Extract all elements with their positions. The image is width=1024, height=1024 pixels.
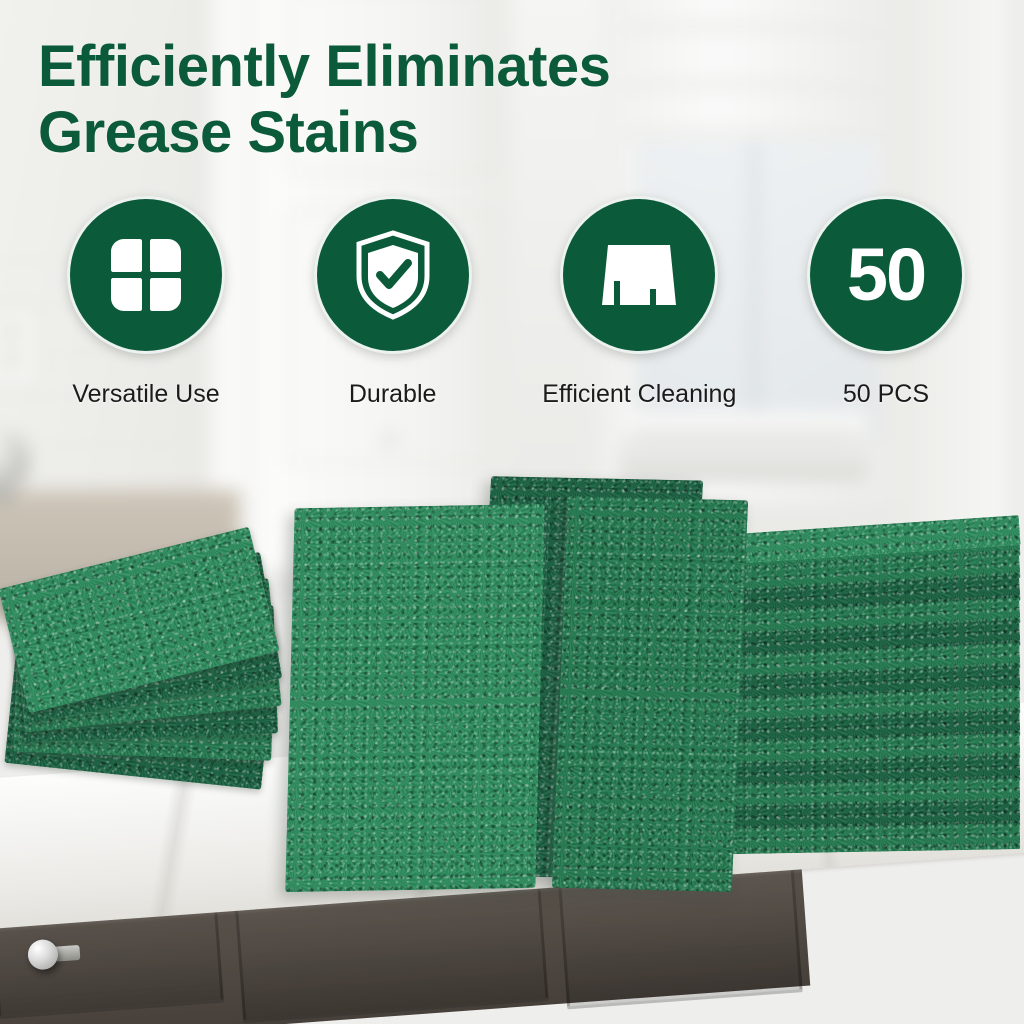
feature-label: Versatile Use: [72, 380, 219, 409]
shield-check-icon: [350, 229, 436, 321]
scrub-pad-icon: [594, 235, 684, 315]
page-title: Efficiently Eliminates Grease Stains: [38, 34, 758, 165]
feature-badge-row: Versatile Use Durable: [36, 196, 996, 409]
feature-efficient-cleaning: Efficient Cleaning: [529, 196, 749, 409]
feature-label: Efficient Cleaning: [542, 380, 736, 409]
count-50-icon: 50: [847, 238, 925, 312]
four-squares-icon: [104, 233, 188, 317]
feature-badge-circle: [560, 196, 718, 354]
feature-badge-circle: [67, 196, 225, 354]
headline-line-2: Grease Stains: [38, 100, 758, 166]
product-marketing-image: Efficiently Eliminates Grease Stains Ver…: [0, 0, 1024, 1024]
feature-label: Durable: [349, 380, 437, 409]
feature-versatile-use: Versatile Use: [36, 196, 256, 409]
feature-quantity: 50 50 PCS: [776, 196, 996, 409]
feature-badge-circle: [314, 196, 472, 354]
feature-durable: Durable: [283, 196, 503, 409]
feature-label: 50 PCS: [843, 380, 929, 409]
headline-line-1: Efficiently Eliminates: [38, 34, 610, 99]
overlay-content: Efficiently Eliminates Grease Stains Ver…: [0, 0, 1024, 1024]
feature-badge-circle: 50: [807, 196, 965, 354]
